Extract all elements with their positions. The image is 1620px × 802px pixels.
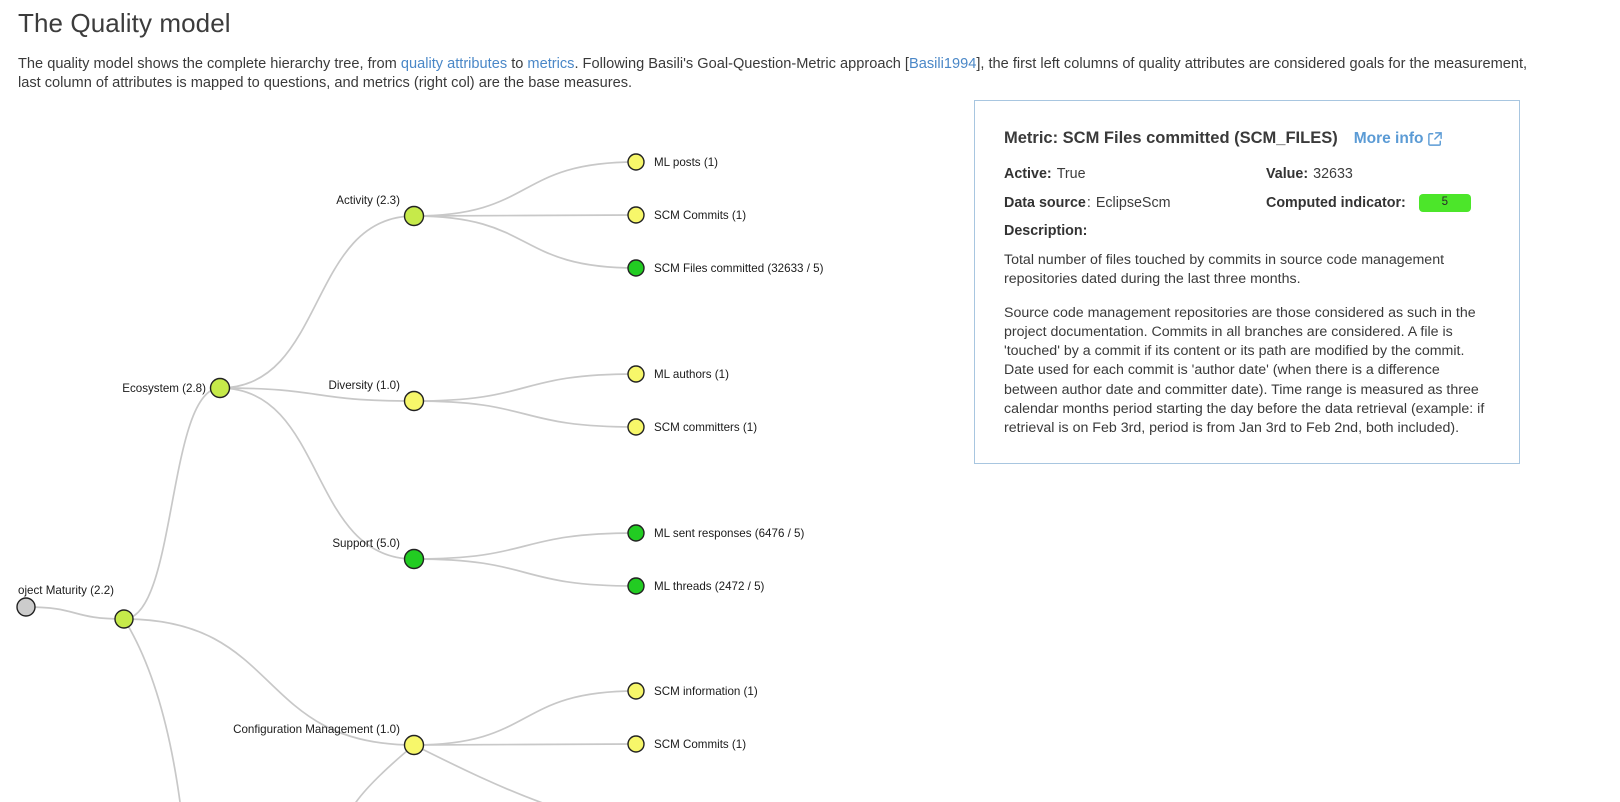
metric-indicator-label: Computed indicator: xyxy=(1266,193,1406,213)
graph-edge xyxy=(124,619,180,802)
more-info-label: More info xyxy=(1354,130,1424,148)
node-label: Activity (2.3) xyxy=(336,194,400,207)
node-circle[interactable] xyxy=(628,578,644,594)
graph-node-scm_commits2[interactable]: SCM Commits (1) xyxy=(628,736,746,752)
intro-text-2: to xyxy=(507,56,527,72)
node-label: Configuration Management (1.0) xyxy=(233,723,400,736)
node-circle[interactable] xyxy=(628,366,644,382)
quality-model-tree[interactable]: oject Maturity (2.2)Ecosystem (2.8)Activ… xyxy=(0,88,960,802)
metric-description-label: Description: xyxy=(1004,223,1489,239)
graph-node-scm_comm[interactable]: SCM committers (1) xyxy=(628,419,757,435)
graph-node-ecosystem[interactable]: Ecosystem (2.8) xyxy=(122,379,229,398)
metric-datasource-label: Data source xyxy=(1004,193,1086,213)
graph-node-ml_authors[interactable]: ML authors (1) xyxy=(628,366,729,382)
node-circle[interactable] xyxy=(405,550,424,569)
graph-node-scm_commits1[interactable]: SCM Commits (1) xyxy=(628,207,746,223)
metric-value-field: Value: 32633 xyxy=(1266,164,1489,184)
metric-meta-grid: Active: True Value: 32633 Data source: E… xyxy=(1004,164,1489,213)
graph-nodes[interactable]: oject Maturity (2.2)Ecosystem (2.8)Activ… xyxy=(17,154,824,755)
graph-edge xyxy=(414,162,636,216)
node-circle[interactable] xyxy=(628,736,644,752)
graph-edge xyxy=(414,744,636,745)
computed-indicator-badge: 5 xyxy=(1419,194,1471,212)
metric-info-panel: Metric: SCM Files committed (SCM_FILES) … xyxy=(974,100,1520,464)
graph-node-ml_threads[interactable]: ML threads (2472 / 5) xyxy=(628,578,765,594)
graph-edge xyxy=(414,374,636,401)
metric-title: Metric: SCM Files committed (SCM_FILES) xyxy=(1004,129,1338,148)
link-metrics[interactable]: metrics xyxy=(527,56,574,72)
node-circle[interactable] xyxy=(628,207,644,223)
node-circle[interactable] xyxy=(211,379,230,398)
node-circle[interactable] xyxy=(628,260,644,276)
graph-edge xyxy=(414,215,636,216)
node-circle[interactable] xyxy=(405,392,424,411)
node-label: SCM Commits (1) xyxy=(654,738,746,751)
node-label: ML authors (1) xyxy=(654,368,729,381)
node-label: SCM committers (1) xyxy=(654,421,757,434)
metric-description-label-text: Description: xyxy=(1004,223,1087,239)
graph-canvas[interactable]: oject Maturity (2.2)Ecosystem (2.8)Activ… xyxy=(0,88,960,802)
graph-edge xyxy=(414,533,636,559)
intro-text-3: . Following Basili's Goal-Question-Metri… xyxy=(574,56,909,72)
graph-node-ml_sent[interactable]: ML sent responses (6476 / 5) xyxy=(628,525,805,541)
graph-edge xyxy=(414,559,636,586)
graph-edge xyxy=(414,745,554,802)
metric-value-value: 32633 xyxy=(1313,164,1353,184)
metric-title-row: Metric: SCM Files committed (SCM_FILES) … xyxy=(1004,129,1489,148)
page-header: The Quality model The quality model show… xyxy=(0,0,1620,38)
metric-datasource-field: Data source: EclipseScm xyxy=(1004,193,1266,213)
node-circle[interactable] xyxy=(628,683,644,699)
metric-active-value: True xyxy=(1057,164,1086,184)
graph-node-maturity[interactable] xyxy=(115,610,133,628)
node-circle[interactable] xyxy=(115,610,133,628)
metric-description-paragraph-2: Source code management repositories are … xyxy=(1004,304,1496,439)
metric-active-field: Active: True xyxy=(1004,164,1266,184)
graph-edge xyxy=(354,745,414,802)
page-title: The Quality model xyxy=(0,0,1620,38)
metric-datasource-separator: : xyxy=(1087,193,1091,213)
link-citation-basili1994[interactable]: Basili1994 xyxy=(909,56,976,72)
node-label: ML sent responses (6476 / 5) xyxy=(654,527,805,540)
graph-edge xyxy=(124,388,220,619)
node-label: SCM information (1) xyxy=(654,685,758,698)
node-label: Support (5.0) xyxy=(332,537,400,550)
node-label: ML threads (2472 / 5) xyxy=(654,580,765,593)
node-label: SCM Commits (1) xyxy=(654,209,746,222)
graph-edges xyxy=(26,162,636,802)
node-label: SCM Files committed (32633 / 5) xyxy=(654,262,824,275)
metric-active-label: Active: xyxy=(1004,164,1052,184)
node-label: Ecosystem (2.8) xyxy=(122,382,206,395)
more-info-link[interactable]: More info xyxy=(1354,130,1443,148)
graph-node-activity[interactable]: Activity (2.3) xyxy=(336,194,423,226)
link-quality-attributes[interactable]: quality attributes xyxy=(401,56,507,72)
graph-node-support[interactable]: Support (5.0) xyxy=(332,537,423,569)
graph-node-confmgmt[interactable]: Configuration Management (1.0) xyxy=(233,723,423,755)
node-circle[interactable] xyxy=(628,154,644,170)
graph-node-scm_files[interactable]: SCM Files committed (32633 / 5) xyxy=(628,260,824,276)
graph-edge xyxy=(414,691,636,745)
metric-value-label: Value: xyxy=(1266,164,1308,184)
metric-description-paragraph-1: Total number of files touched by commits… xyxy=(1004,251,1496,290)
node-circle[interactable] xyxy=(628,419,644,435)
node-circle[interactable] xyxy=(405,736,424,755)
node-circle[interactable] xyxy=(405,207,424,226)
node-circle[interactable] xyxy=(628,525,644,541)
graph-node-ml_posts[interactable]: ML posts (1) xyxy=(628,154,718,170)
intro-text-1: The quality model shows the complete hie… xyxy=(18,56,401,72)
node-circle[interactable] xyxy=(17,598,35,616)
graph-edge xyxy=(26,607,124,619)
graph-edge xyxy=(414,401,636,427)
graph-edge xyxy=(220,216,414,388)
graph-edge xyxy=(414,216,636,268)
node-label: oject Maturity (2.2) xyxy=(18,584,114,597)
graph-node-scm_info[interactable]: SCM information (1) xyxy=(628,683,758,699)
metric-indicator-field: Computed indicator: 5 xyxy=(1266,193,1489,213)
external-link-icon xyxy=(1428,132,1442,146)
graph-edge xyxy=(220,388,414,559)
node-label: ML posts (1) xyxy=(654,156,718,169)
graph-node-diversity[interactable]: Diversity (1.0) xyxy=(328,379,423,411)
node-label: Diversity (1.0) xyxy=(328,379,400,392)
metric-datasource-value: EclipseScm xyxy=(1096,193,1171,213)
